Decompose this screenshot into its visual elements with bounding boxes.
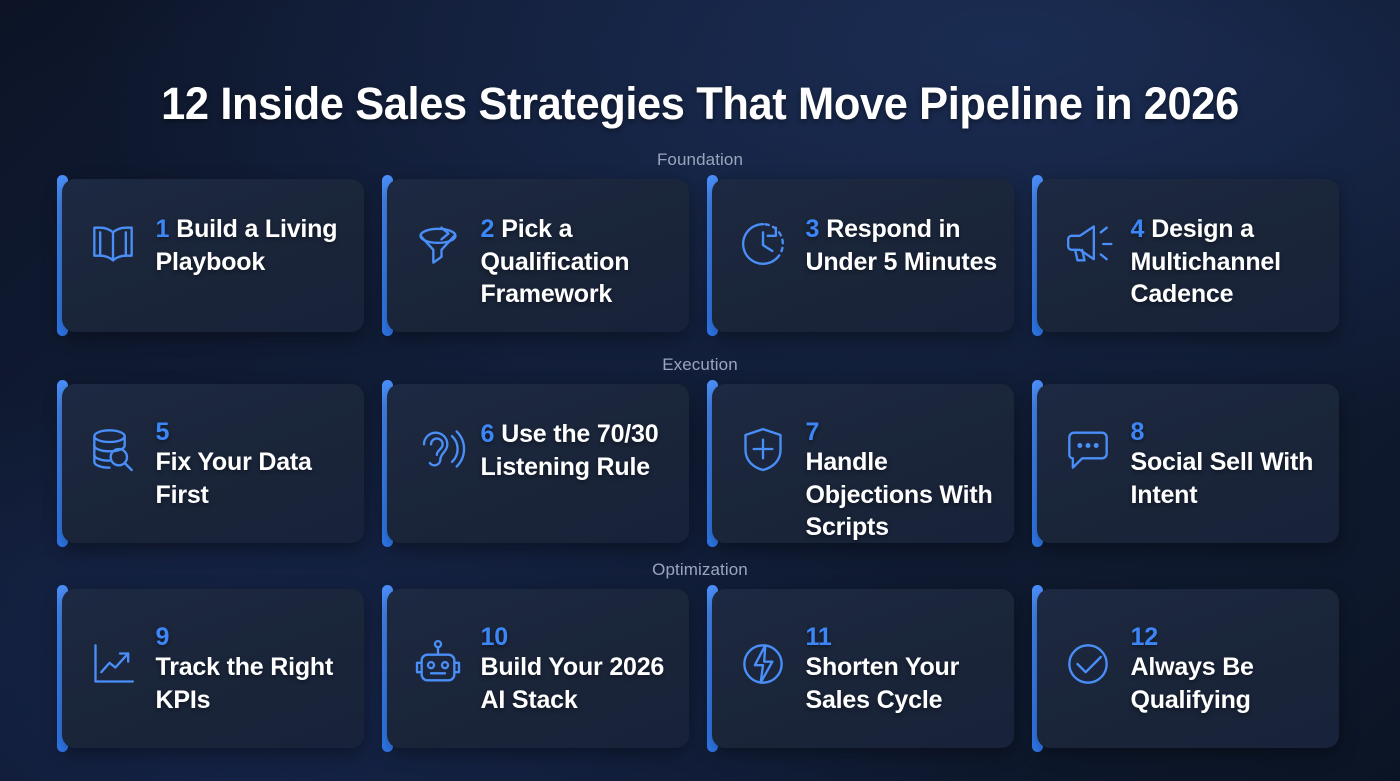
strategy-card-4-number: 4 — [1131, 215, 1145, 243]
strategy-card-3-number: 3 — [806, 215, 820, 243]
strategy-card-6-title: Use the 70/30 Listening Rule — [481, 420, 659, 481]
card-row-3: 9Track the Right KPIs 10Build Your 2026 … — [0, 589, 1400, 748]
strategy-card-9-title: Track the Right KPIs — [156, 653, 334, 714]
strategy-card-4[interactable]: 4Design a Multichannel Cadence — [1037, 179, 1339, 332]
strategy-card-4-text: 4Design a Multichannel Cadence — [1131, 197, 1323, 311]
strategy-card-9-text: 9Track the Right KPIs — [156, 607, 348, 716]
chat-bubble-dots-icon — [1059, 420, 1117, 478]
strategy-card-10[interactable]: 10Build Your 2026 AI Stack — [387, 589, 689, 748]
strategy-card-11-title: Shorten Your Sales Cycle — [806, 653, 960, 714]
strategy-card-11[interactable]: 11Shorten Your Sales Cycle — [712, 589, 1014, 748]
strategy-card-1-text: 1Build a Living Playbook — [156, 197, 348, 278]
page-title: 12 Inside Sales Strategies That Move Pip… — [25, 78, 1376, 130]
strategy-card-4-title: Design a Multichannel Cadence — [1131, 215, 1281, 308]
robot-icon — [409, 635, 467, 693]
strategy-card-1[interactable]: 1Build a Living Playbook — [62, 179, 364, 332]
strategy-card-9-number: 9 — [156, 623, 348, 651]
strategy-card-12-text: 12Always Be Qualifying — [1131, 607, 1323, 716]
strategy-card-1-title: Build a Living Playbook — [156, 215, 338, 276]
strategy-card-9[interactable]: 9Track the Right KPIs — [62, 589, 364, 748]
card-row-1: 1Build a Living Playbook 2Pick a Qualifi… — [0, 179, 1400, 332]
section-label-foundation: Foundation — [0, 150, 1400, 170]
strategy-card-12-title: Always Be Qualifying — [1131, 653, 1254, 714]
strategy-card-5[interactable]: 5Fix Your Data First — [62, 384, 364, 543]
strategy-card-10-title: Build Your 2026 AI Stack — [481, 653, 665, 714]
line-chart-up-icon — [84, 635, 142, 693]
check-circle-icon — [1059, 635, 1117, 693]
megaphone-icon — [1059, 215, 1117, 273]
strategy-card-8[interactable]: 8Social Sell With Intent — [1037, 384, 1339, 543]
strategy-card-5-title: Fix Your Data First — [156, 448, 312, 509]
strategy-card-3[interactable]: 3Respond in Under 5 Minutes — [712, 179, 1014, 332]
strategy-card-10-text: 10Build Your 2026 AI Stack — [481, 607, 673, 716]
strategy-card-3-title: Respond in Under 5 Minutes — [806, 215, 997, 276]
section-label-execution: Execution — [0, 355, 1400, 375]
database-search-icon — [84, 420, 142, 478]
strategy-card-6[interactable]: 6Use the 70/30 Listening Rule — [387, 384, 689, 543]
strategy-card-12[interactable]: 12Always Be Qualifying — [1037, 589, 1339, 748]
open-book-icon — [84, 215, 142, 273]
infographic-poster: 12 Inside Sales Strategies That Move Pip… — [0, 0, 1400, 781]
strategy-card-6-text: 6Use the 70/30 Listening Rule — [481, 402, 673, 483]
strategy-card-1-number: 1 — [156, 215, 170, 243]
lightning-circle-icon — [734, 635, 792, 693]
strategy-card-2[interactable]: 2Pick a Qualification Framework — [387, 179, 689, 332]
card-row-2: 5Fix Your Data First 6Use the 70/30 List… — [0, 384, 1400, 543]
strategy-card-8-title: Social Sell With Intent — [1131, 448, 1314, 509]
strategy-card-11-text: 11Shorten Your Sales Cycle — [806, 607, 998, 716]
ear-listening-icon — [409, 420, 467, 478]
strategy-card-12-number: 12 — [1131, 623, 1323, 651]
strategy-card-8-number: 8 — [1131, 418, 1323, 446]
section-label-optimization: Optimization — [0, 560, 1400, 580]
strategy-card-5-text: 5Fix Your Data First — [156, 402, 348, 511]
strategy-card-2-number: 2 — [481, 215, 495, 243]
strategy-card-3-text: 3Respond in Under 5 Minutes — [806, 197, 998, 278]
strategy-card-6-number: 6 — [481, 420, 495, 448]
shield-plus-icon — [734, 420, 792, 478]
strategy-card-2-title: Pick a Qualification Framework — [481, 215, 630, 308]
strategy-card-7-text: 7Handle Objections With Scripts — [806, 402, 998, 544]
section-execution: Execution 5Fix Your Data First 6Use the … — [0, 355, 1400, 543]
clock-timer-icon — [734, 215, 792, 273]
section-optimization: Optimization 9Track the Right KPIs 10Bui… — [0, 560, 1400, 748]
strategy-card-11-number: 11 — [806, 623, 998, 651]
strategy-card-8-text: 8Social Sell With Intent — [1131, 402, 1323, 511]
strategy-card-7-title: Handle Objections With Scripts — [806, 448, 993, 541]
strategy-card-10-number: 10 — [481, 623, 673, 651]
strategy-card-5-number: 5 — [156, 418, 348, 446]
strategy-card-7-number: 7 — [806, 418, 998, 446]
strategy-card-2-text: 2Pick a Qualification Framework — [481, 197, 673, 311]
strategy-card-7[interactable]: 7Handle Objections With Scripts — [712, 384, 1014, 543]
funnel-arrow-icon — [409, 215, 467, 273]
section-foundation: Foundation 1Build a Living Playbook 2Pic… — [0, 150, 1400, 332]
